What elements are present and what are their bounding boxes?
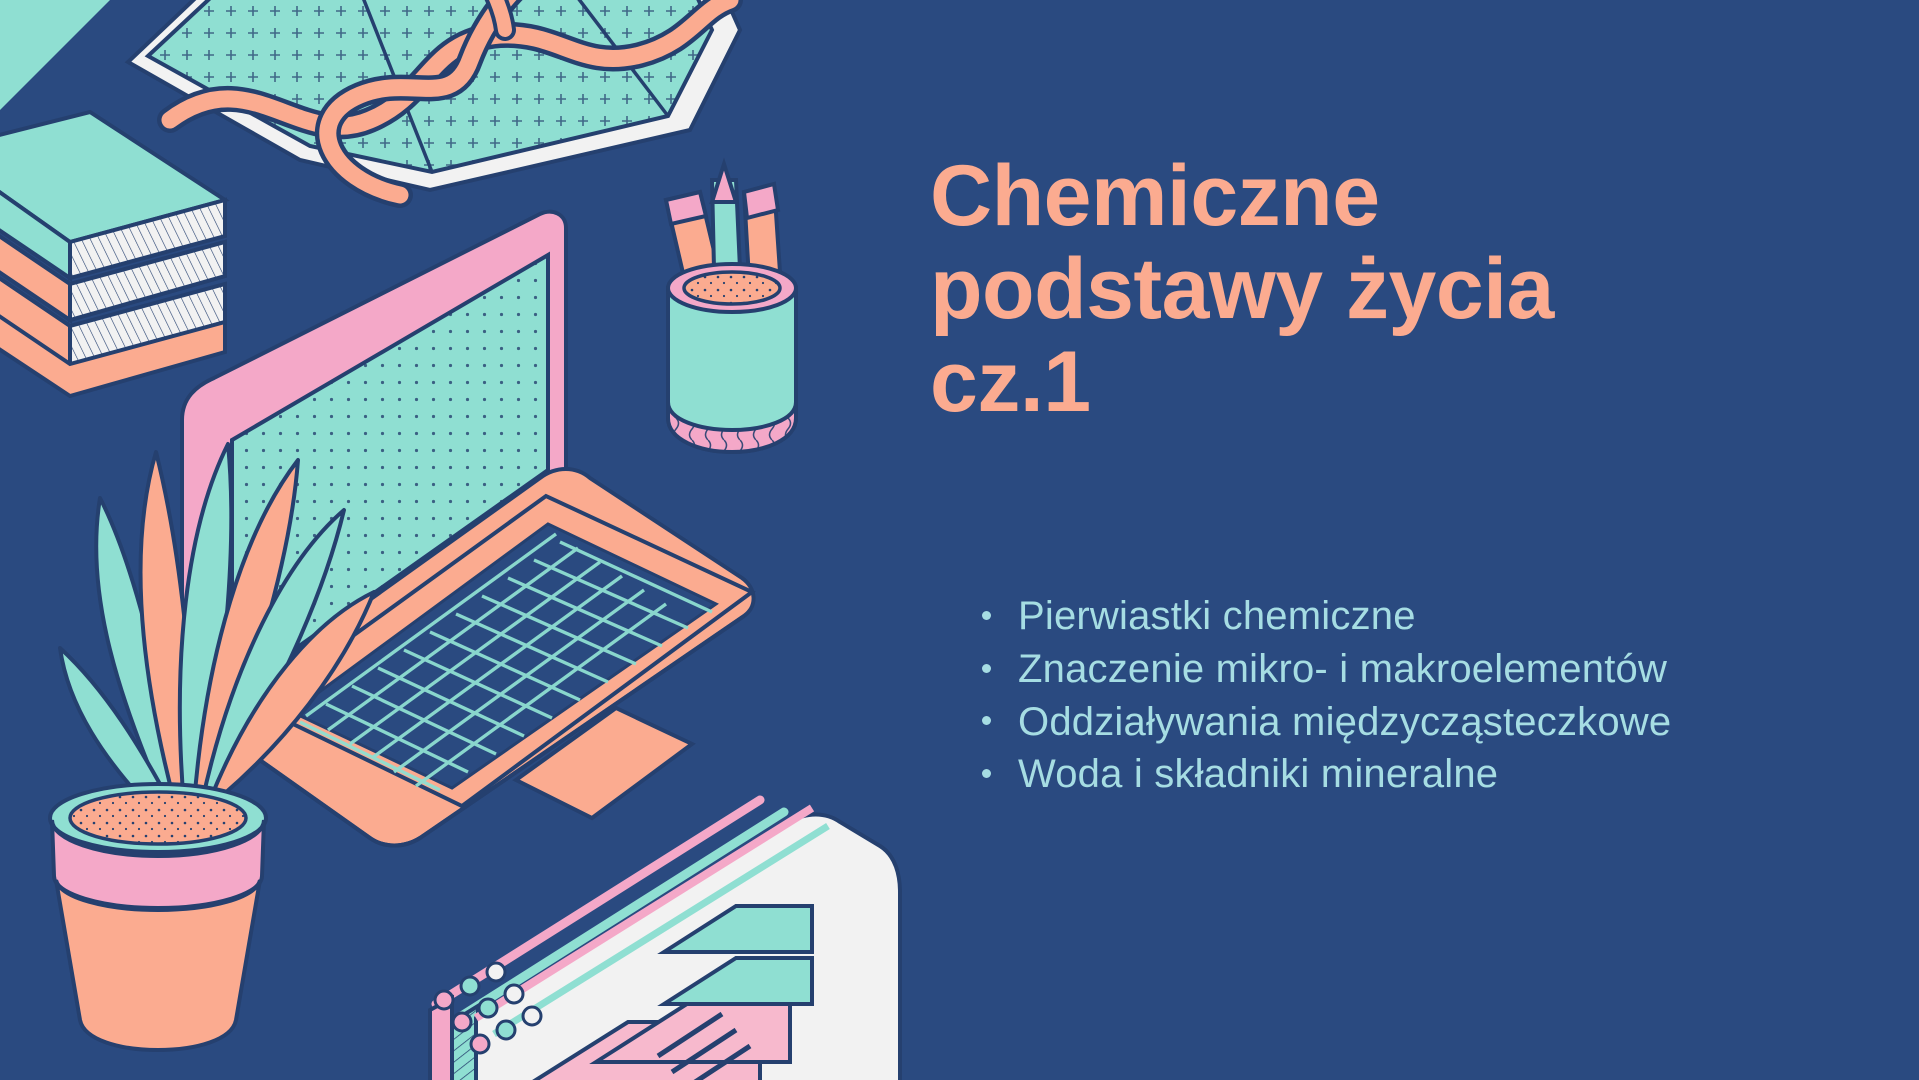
bullet-dot-icon [982, 716, 991, 725]
list-item-label: Pierwiastki chemiczne [1018, 594, 1416, 638]
slide-text-column: Chemiczne podstawy życia cz.1 Pierwiastk… [930, 150, 1860, 429]
list-item: Znaczenie mikro- i makroelementów [980, 643, 1860, 696]
bullet-dot-icon [982, 664, 991, 673]
list-item: Pierwiastki chemiczne [980, 590, 1860, 643]
stack-of-books-illustration [0, 112, 225, 396]
list-item-label: Oddziaływania międzycząsteczkowe [1018, 700, 1671, 744]
bullet-dot-icon [982, 769, 991, 778]
list-item: Oddziaływania międzycząsteczkowe [980, 696, 1860, 749]
laptop-illustration [182, 212, 754, 846]
slide-bullet-list: Pierwiastki chemiczne Znaczenie mikro- i… [980, 590, 1860, 801]
list-item-label: Woda i składniki mineralne [1018, 752, 1498, 796]
folded-map-illustration [128, 0, 740, 195]
bullet-dot-icon [982, 611, 991, 620]
potted-plant-illustration [50, 444, 374, 1050]
slide-title: Chemiczne podstawy życia cz.1 [930, 150, 1860, 429]
list-item: Woda i składniki mineralne [980, 748, 1860, 801]
browser-window-illustration [430, 800, 900, 1080]
pencil-cup-illustration [666, 164, 796, 452]
list-item-label: Znaczenie mikro- i makroelementów [1018, 647, 1667, 691]
presentation-slide: Chemiczne podstawy życia cz.1 Pierwiastk… [0, 0, 1919, 1080]
